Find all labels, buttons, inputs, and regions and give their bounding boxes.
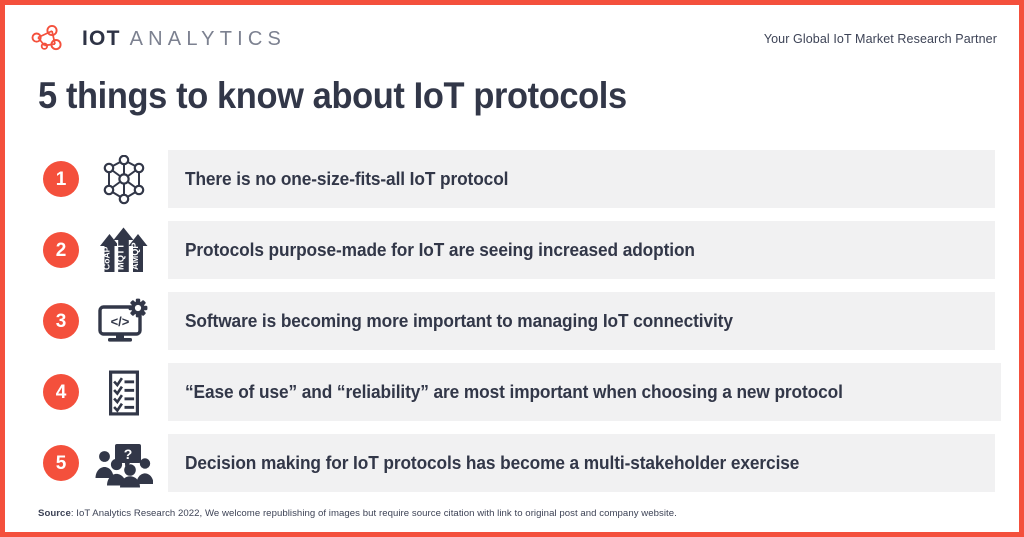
source-label: Source — [38, 508, 71, 519]
code-monitor-gear-icon: </> — [93, 296, 155, 348]
iot-network-logo-icon — [29, 24, 71, 54]
item-number-badge: 5 — [43, 445, 79, 481]
fact-text: Software is becoming more important to m… — [185, 311, 733, 332]
infographic-slide: IOT ANALYTICS Your Global IoT Market Res… — [0, 0, 1024, 537]
item-number-badge: 1 — [43, 161, 79, 197]
brand-iot-text: IOT — [82, 27, 121, 51]
source-note: Source: IoT Analytics Research 2022, We … — [38, 508, 677, 519]
item-number-badge: 4 — [43, 374, 79, 410]
item-number-badge: 2 — [43, 232, 79, 268]
list-item: 1 — [5, 150, 1019, 208]
code-glyph: </> — [111, 314, 130, 329]
fact-band: “Ease of use” and “reliability” are most… — [168, 363, 1001, 421]
checklist-icon — [93, 367, 155, 419]
fact-text: Decision making for IoT protocols has be… — [185, 453, 799, 474]
fact-band: There is no one-size-fits-all IoT protoc… — [168, 150, 995, 208]
item-number-badge: 3 — [43, 303, 79, 339]
brand-analytics-text: ANALYTICS — [130, 28, 286, 51]
fact-text: There is no one-size-fits-all IoT protoc… — [185, 169, 508, 190]
list-item: 4 — [5, 363, 1019, 421]
fact-text: “Ease of use” and “reliability” are most… — [185, 382, 843, 403]
fact-band: Decision making for IoT protocols has be… — [168, 434, 995, 492]
list-item: 2 CoAP MQTT AMQP Protocols purpose-made … — [5, 221, 1019, 279]
tagline: Your Global IoT Market Research Partner — [764, 32, 997, 46]
fact-band: Software is becoming more important to m… — [168, 292, 995, 350]
arrow-label-coap: CoAP — [102, 246, 112, 270]
fact-list: 1 — [5, 150, 1019, 505]
arrow-label-amqp: AMQP — [130, 242, 140, 270]
slide-header: IOT ANALYTICS Your Global IoT Market Res… — [5, 19, 1019, 59]
list-item: 5 ? — [5, 434, 1019, 492]
protocol-arrows-icon: CoAP MQTT AMQP — [93, 225, 155, 277]
people-question-icon: ? — [93, 438, 155, 490]
source-text: : IoT Analytics Research 2022, We welcom… — [71, 508, 677, 519]
page-title: 5 things to know about IoT protocols — [38, 75, 627, 117]
fact-text: Protocols purpose-made for IoT are seein… — [185, 240, 695, 261]
brand-logo: IOT ANALYTICS — [29, 24, 286, 54]
arrow-label-mqtt: MQTT — [115, 243, 126, 270]
brand-wordmark: IOT ANALYTICS — [82, 27, 286, 51]
list-item: 3 </> — [5, 292, 1019, 350]
fact-band: Protocols purpose-made for IoT are seein… — [168, 221, 995, 279]
mesh-network-icon — [93, 154, 155, 206]
question-glyph: ? — [124, 446, 133, 462]
